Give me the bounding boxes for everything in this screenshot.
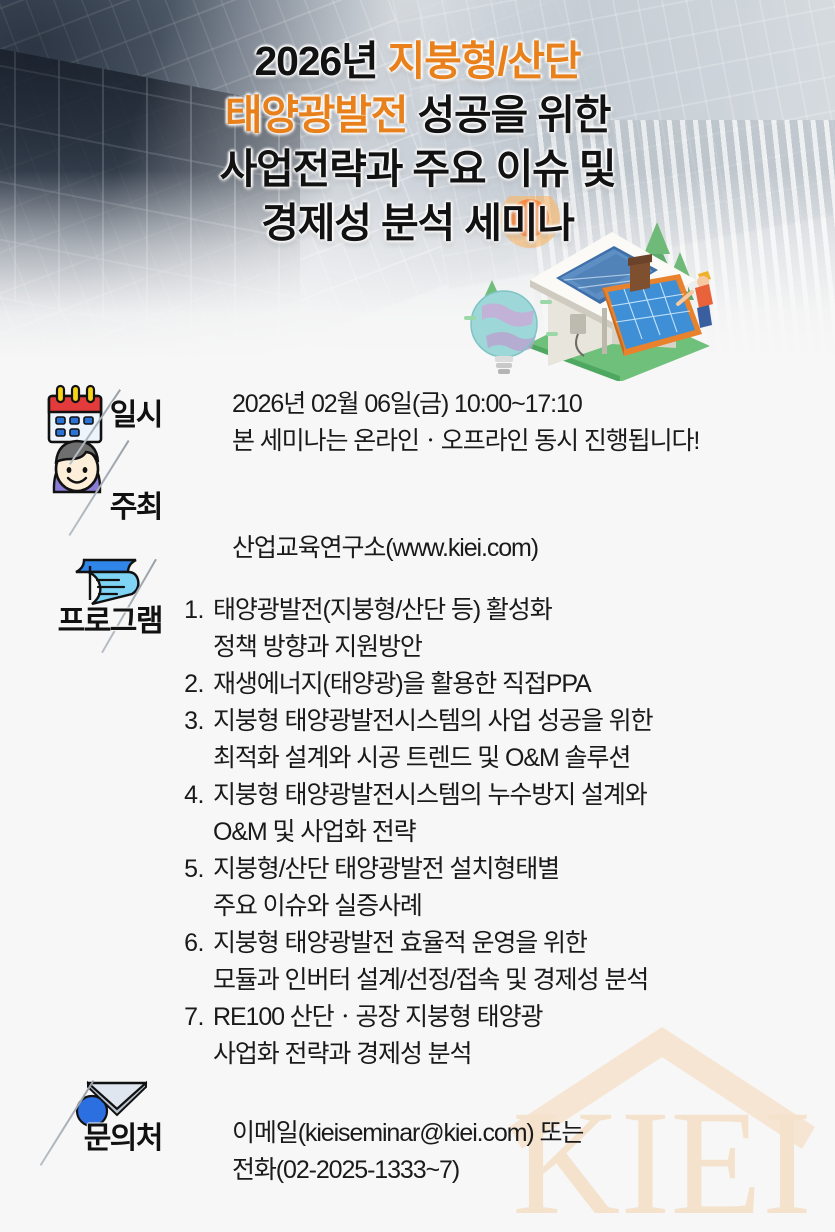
program-item-line: 정책 방향과 지원방안 [213,629,835,666]
title-plain-text: 경제성 분석 세미나 [261,200,574,246]
title-accent-text: 지붕형/산단 [388,38,581,84]
program-item-line: 지붕형 태양광발전시스템의 사업 성공을 위한 [213,703,835,740]
host-body: 산업교육연구소(www.kiei.com) [170,476,835,567]
host-line-1: 산업교육연구소(www.kiei.com) [232,530,835,567]
datetime-body: 2026년 02월 06일(금) 10:00~17:10 본 세미나는 온라인ㆍ… [170,372,835,460]
program-item-number: 2. [170,666,204,703]
list-item: 6. 지붕형 태양광발전 효율적 운영을 위한 모듈과 인버터 설계/선정/접속… [170,925,835,999]
section-contact: 문의처 이메일(kieiseminar@kiei.com) 또는 전화(02-2… [0,1103,835,1198]
program-item-number: 4. [170,777,204,814]
contact-label: 문의처 [84,1122,162,1155]
program-item-text: 지붕형/산단 태양광발전 설치형태별 주요 이슈와 실증사례 [204,851,835,925]
program-body: 1. 태양광발전(지붕형/산단 등) 활성화 정책 방향과 지원방안 2. 재생… [0,588,835,1073]
program-item-line: 사업화 전략과 경제성 분석 [213,1036,835,1073]
datetime-label-group: 일시 [0,372,170,434]
datetime-line-2: 본 세미나는 온라인ㆍ오프라인 동시 진행됩니다! [232,423,835,460]
program-item-line: 태양광발전(지붕형/산단 등) 활성화 [213,592,835,629]
program-item-text: 태양광발전(지붕형/산단 등) 활성화 정책 방향과 지원방안 [204,592,835,666]
title-line-4: 경제성 분석 세미나 [0,196,835,250]
contact-label-group: 문의처 [0,1103,170,1157]
title-plain-text: 성공을 위한 [407,92,610,138]
contact-line-2: 전화(02-2025-1333~7) [232,1152,835,1189]
host-label: 주최 [110,491,162,524]
host-label-group: 주최 [0,476,170,526]
globe-lightbulb-icon [464,291,558,374]
program-label: 프로그램 [58,605,162,638]
program-item-text: 재생에너지(태양광)을 활용한 직접PPA [204,666,835,703]
datetime-line-1: 2026년 02월 06일(금) 10:00~17:10 [232,386,835,423]
contact-body: 이메일(kieiseminar@kiei.com) 또는 전화(02-2025-… [170,1103,835,1189]
datetime-label: 일시 [110,399,162,432]
program-item-text: 지붕형 태양광발전 효율적 운영을 위한 모듈과 인버터 설계/선정/접속 및 … [204,925,835,999]
person-icon [44,436,110,519]
poster-content: 일시 2026년 02월 06일(금) 10:00~17:10 본 세미나는 온… [0,372,835,1198]
program-list: 1. 태양광발전(지붕형/산단 등) 활성화 정책 방향과 지원방안 2. 재생… [170,592,835,1073]
title-line-2: 태양광발전 성공을 위한 [0,88,835,142]
program-item-number: 3. [170,703,204,740]
program-item-line: 지붕형 태양광발전시스템의 누수방지 설계와 [213,777,835,814]
program-item-number: 6. [170,925,204,962]
title-plain-text: 사업전략과 주요 이슈 및 [220,146,616,192]
contact-line-1: 이메일(kieiseminar@kiei.com) 또는 [232,1115,835,1152]
title-line-3: 사업전략과 주요 이슈 및 [0,142,835,196]
program-item-line: 지붕형 태양광발전 효율적 운영을 위한 [213,925,835,962]
section-datetime: 일시 2026년 02월 06일(금) 10:00~17:10 본 세미나는 온… [0,372,835,476]
poster-title: 2026년 지붕형/산단 태양광발전 성공을 위한 사업전략과 주요 이슈 및 … [0,34,835,250]
program-item-number: 5. [170,851,204,888]
title-line-1: 2026년 지붕형/산단 [0,34,835,88]
program-label-group: 프로그램 [0,588,170,640]
program-item-line: 모듈과 인버터 설계/선정/접속 및 경제성 분석 [213,962,835,999]
section-program: 프로그램 1. 태양광발전(지붕형/산단 등) 활성화 정책 방향과 지원방안 … [0,588,835,1103]
program-item-text: RE100 산단ㆍ공장 지붕형 태양광 사업화 전략과 경제성 분석 [204,999,835,1073]
program-item-line: 주요 이슈와 실증사례 [213,888,835,925]
title-plain-text: 2026년 [255,38,388,84]
title-accent-text: 태양광발전 [225,92,408,138]
list-item: 2. 재생에너지(태양광)을 활용한 직접PPA [170,666,835,703]
program-item-line: 지붕형/산단 태양광발전 설치형태별 [213,851,835,888]
program-item-line: RE100 산단ㆍ공장 지붕형 태양광 [213,999,835,1036]
program-item-number: 7. [170,999,204,1036]
list-item: 7. RE100 산단ㆍ공장 지붕형 태양광 사업화 전략과 경제성 분석 [170,999,835,1073]
program-item-text: 지붕형 태양광발전시스템의 누수방지 설계와 O&M 및 사업화 전략 [204,777,835,851]
program-item-line: O&M 및 사업화 전략 [213,814,835,851]
program-item-number: 1. [170,592,204,629]
program-item-line: 재생에너지(태양광)을 활용한 직접PPA [213,666,835,703]
program-item-line: 최적화 설계와 시공 트렌드 및 O&M 솔루션 [213,740,835,777]
list-item: 4. 지붕형 태양광발전시스템의 누수방지 설계와 O&M 및 사업화 전략 [170,777,835,851]
list-item: 1. 태양광발전(지붕형/산단 등) 활성화 정책 방향과 지원방안 [170,592,835,666]
seminar-poster: KIEI [0,0,835,1232]
list-item: 3. 지붕형 태양광발전시스템의 사업 성공을 위한 최적화 설계와 시공 트렌… [170,703,835,777]
program-item-text: 지붕형 태양광발전시스템의 사업 성공을 위한 최적화 설계와 시공 트렌드 및… [204,703,835,777]
list-item: 5. 지붕형/산단 태양광발전 설치형태별 주요 이슈와 실증사례 [170,851,835,925]
